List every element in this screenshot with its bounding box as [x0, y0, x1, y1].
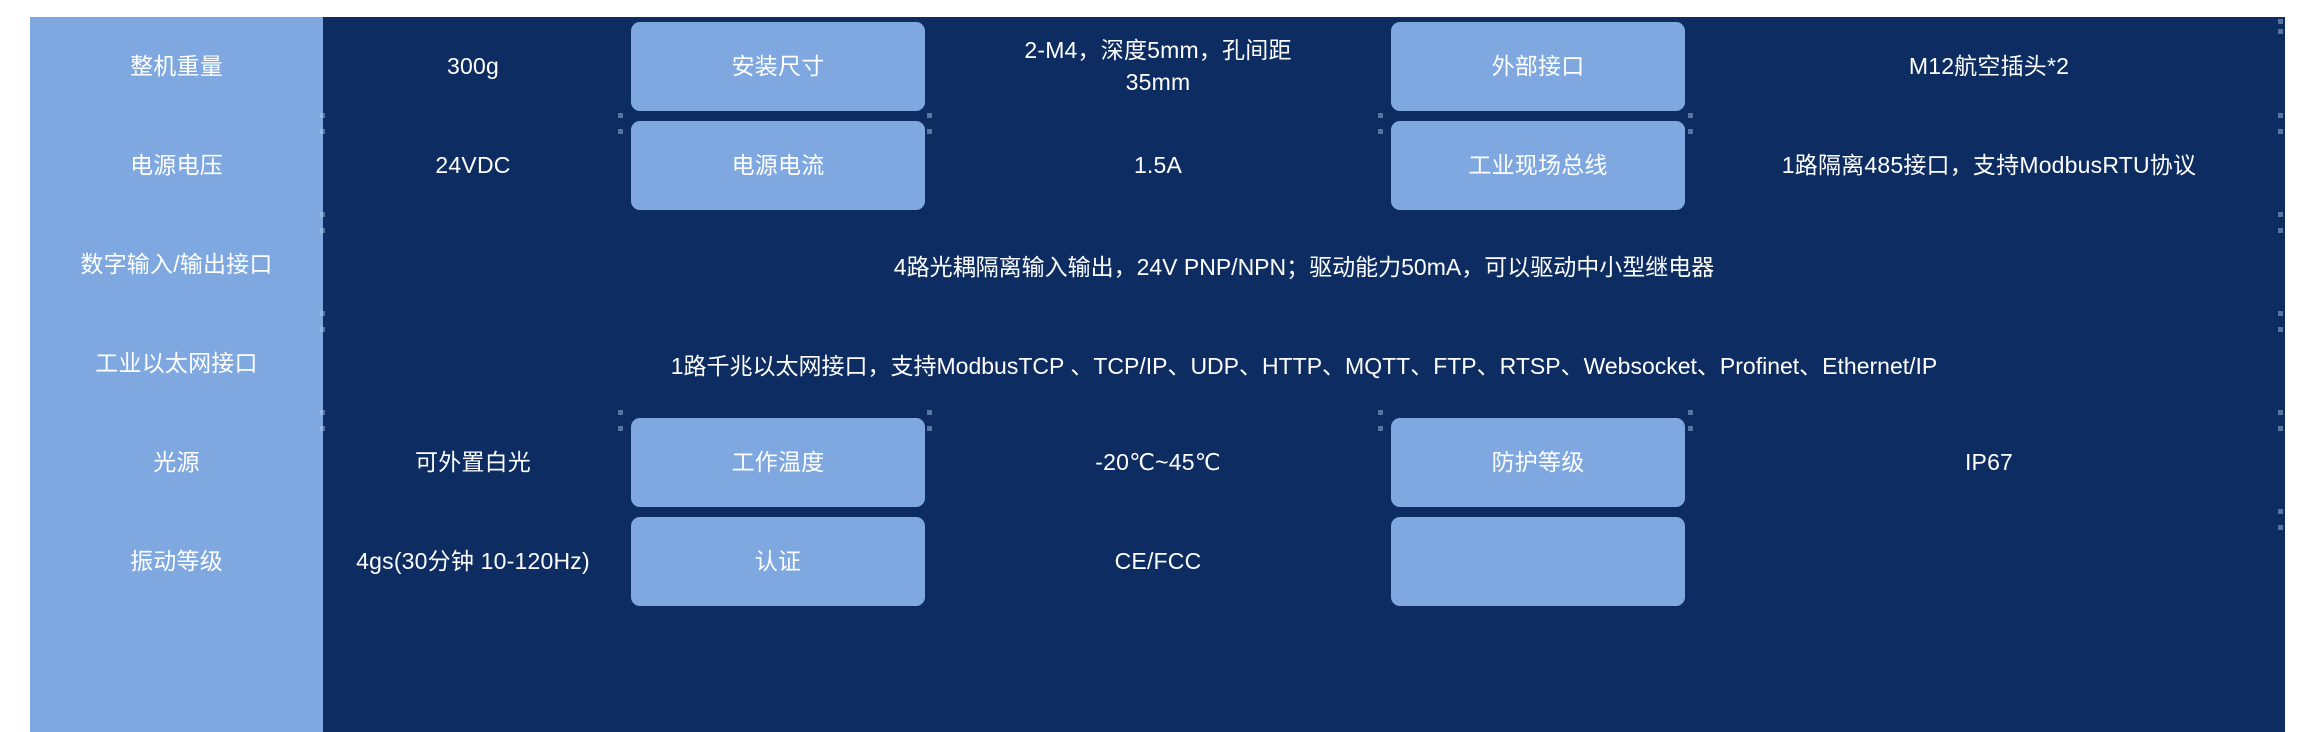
- specification-table: 整机重量 300g 安装尺寸 2-M4，深度5mm，孔间距35mm 外部接口 M…: [30, 17, 2285, 732]
- value-cell-b: -20℃~45℃: [933, 413, 1383, 512]
- row-label-cell: 电源电压: [30, 116, 323, 215]
- key-cell-b: 工作温度: [623, 413, 933, 512]
- row-label-cell: 光源: [30, 413, 323, 512]
- value-cell-a: 可外置白光: [323, 413, 623, 512]
- merged-value-cell: 1路千兆以太网接口，支持ModbusTCP 、TCP/IP、UDP、HTTP、M…: [323, 314, 2285, 413]
- key-chip-c: 防护等级: [1391, 418, 1685, 507]
- key-chip-b: 工作温度: [631, 418, 925, 507]
- key-chip-b: 认证: [631, 517, 925, 606]
- value-cell-b-text: 1.5A: [1134, 150, 1182, 181]
- row-label-cell: 工业以太网接口: [30, 314, 323, 413]
- value-cell-c-text: M12航空插头*2: [1909, 51, 2069, 82]
- row-label-text: 振动等级: [130, 546, 223, 577]
- value-cell-a: 4gs(30分钟 10-120Hz): [323, 512, 623, 611]
- value-cell-a: 300g: [323, 17, 623, 116]
- value-cell-b: 2-M4，深度5mm，孔间距35mm: [933, 17, 1383, 116]
- table-row: 数字输入/输出接口 4路光耦隔离输入输出，24V PNP/NPN；驱动能力50m…: [30, 215, 2285, 314]
- row-label-text: 电源电压: [130, 150, 223, 181]
- key-chip-b: 电源电流: [631, 121, 925, 210]
- table-row: 电源电压 24VDC 电源电流 1.5A 工业现场总线 1路隔离485接口，支持…: [30, 116, 2285, 215]
- table-row: 振动等级 4gs(30分钟 10-120Hz) 认证 CE/FCC: [30, 512, 2285, 611]
- key-cell-c-empty: [1383, 512, 1693, 611]
- table-row: 整机重量 300g 安装尺寸 2-M4，深度5mm，孔间距35mm 外部接口 M…: [30, 17, 2285, 116]
- key-cell-b: 认证: [623, 512, 933, 611]
- row-label-text: 工业以太网接口: [95, 348, 257, 379]
- value-cell-b-text: 2-M4，深度5mm，孔间距35mm: [993, 35, 1323, 97]
- value-cell-c: [1693, 512, 2285, 611]
- key-chip-b: 安装尺寸: [631, 22, 925, 111]
- value-cell-c-text: 1路隔离485接口，支持ModbusRTU协议: [1782, 150, 2196, 181]
- row-label-text: 整机重量: [130, 51, 223, 82]
- value-cell-b: 1.5A: [933, 116, 1383, 215]
- merged-value-cell: 4路光耦隔离输入输出，24V PNP/NPN；驱动能力50mA，可以驱动中小型继…: [323, 215, 2285, 314]
- key-cell-c: 防护等级: [1383, 413, 1693, 512]
- value-cell-a: 24VDC: [323, 116, 623, 215]
- value-cell-c-text: IP67: [1965, 447, 2013, 478]
- key-chip-c-empty: [1391, 517, 1685, 606]
- value-cell-c: IP67: [1693, 413, 2285, 512]
- key-cell-b: 安装尺寸: [623, 17, 933, 116]
- row-label-cell: 整机重量: [30, 17, 323, 116]
- row-label-text: 数字输入/输出接口: [80, 249, 272, 280]
- row-label-text: 光源: [153, 447, 199, 478]
- row-label-cell: 振动等级: [30, 512, 323, 611]
- value-cell-c: 1路隔离485接口，支持ModbusRTU协议: [1693, 116, 2285, 215]
- key-cell-b: 电源电流: [623, 116, 933, 215]
- value-cell-b: CE/FCC: [933, 512, 1383, 611]
- table-row: 光源 可外置白光 工作温度 -20℃~45℃ 防护等级 IP67: [30, 413, 2285, 512]
- key-cell-c: 外部接口: [1383, 17, 1693, 116]
- table-row: 工业以太网接口 1路千兆以太网接口，支持ModbusTCP 、TCP/IP、UD…: [30, 314, 2285, 413]
- key-cell-c: 工业现场总线: [1383, 116, 1693, 215]
- value-cell-c: M12航空插头*2: [1693, 17, 2285, 116]
- value-cell-b-text: CE/FCC: [1115, 546, 1202, 577]
- key-chip-c: 外部接口: [1391, 22, 1685, 111]
- row-label-cell: 数字输入/输出接口: [30, 215, 323, 314]
- value-cell-b-text: -20℃~45℃: [1095, 447, 1221, 478]
- key-chip-c: 工业现场总线: [1391, 121, 1685, 210]
